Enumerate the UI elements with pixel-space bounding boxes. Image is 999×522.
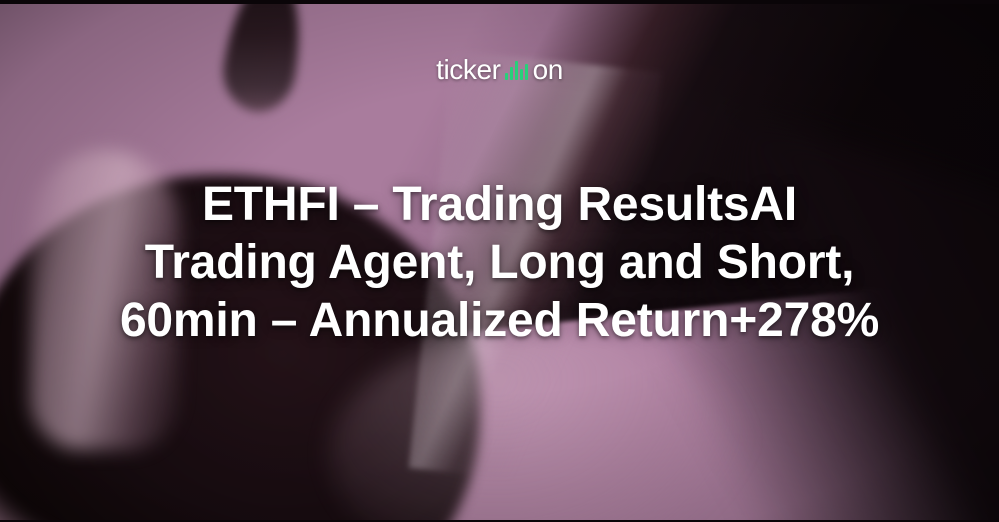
bar-chart-bar-1	[505, 73, 508, 80]
brand-word-right: on	[533, 56, 563, 84]
headline-line-3: 60min – Annualized Return+278%	[40, 292, 959, 350]
bar-chart-bar-2	[510, 67, 513, 80]
bar-chart-bar-3	[515, 61, 518, 80]
bar-chart-bar-4	[520, 69, 523, 80]
headline-line-2: Trading Agent, Long and Short,	[40, 234, 959, 292]
brand-word-left: ticker	[436, 56, 501, 84]
bar-chart-icon	[505, 60, 528, 81]
brand-logo[interactable]: ticker on	[0, 52, 999, 88]
hero-card: ticker on ETHFI – Trading ResultsAI Trad…	[0, 0, 999, 522]
bar-chart-bar-5	[525, 64, 528, 80]
headline-line-1: ETHFI – Trading ResultsAI	[40, 176, 959, 234]
page-title: ETHFI – Trading ResultsAI Trading Agent,…	[40, 176, 959, 350]
card-content: ticker on ETHFI – Trading ResultsAI Trad…	[0, 0, 999, 522]
